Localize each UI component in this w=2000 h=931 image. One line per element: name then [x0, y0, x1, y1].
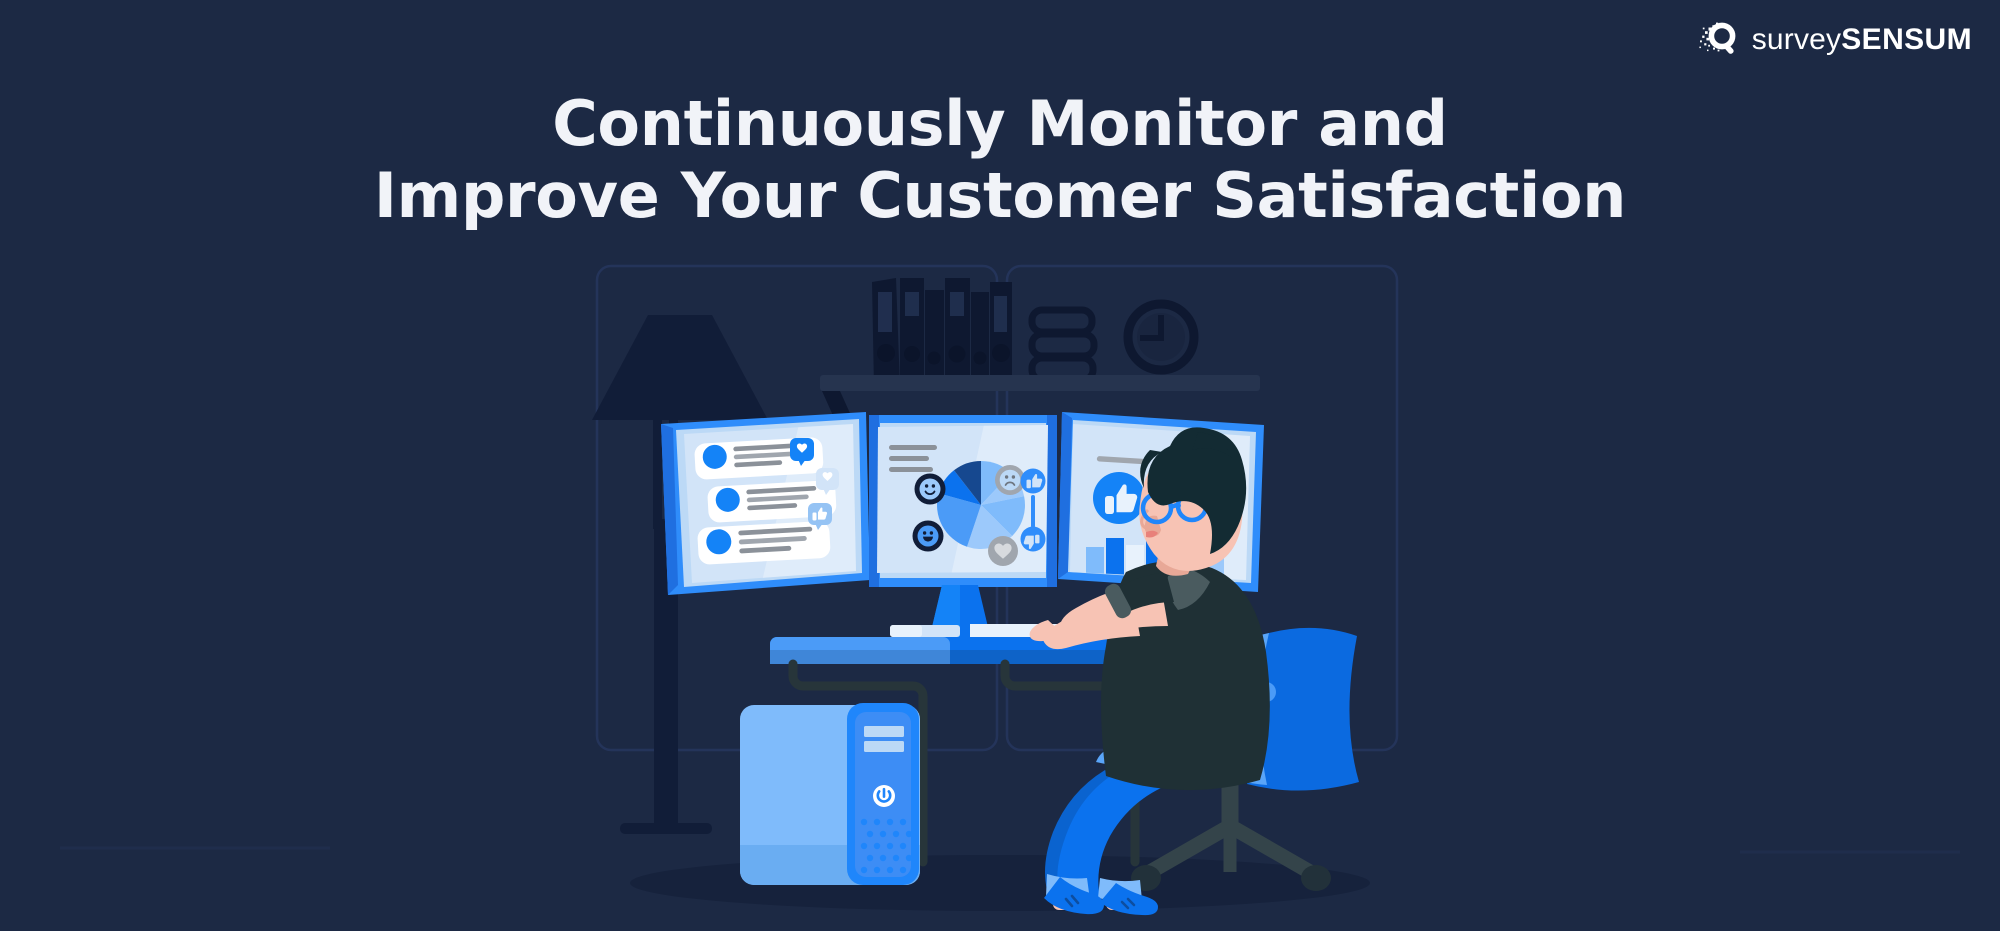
badge-grin-face [913, 521, 944, 552]
rating-thumbs-up [1021, 469, 1046, 494]
monitor-left[interactable] [661, 412, 880, 595]
keyboard [890, 625, 960, 637]
monitor-center[interactable] [869, 415, 1060, 587]
rating-thumbs-down [1021, 527, 1046, 552]
comment-card [697, 521, 831, 565]
hero-illustration [0, 0, 2000, 931]
shelf-board [820, 375, 1260, 391]
power-icon[interactable] [873, 785, 895, 807]
badge-heart [988, 536, 1018, 566]
floor-lines [60, 848, 1960, 852]
promo-banner: surveySENSUM Continuously Monitor and Im… [0, 0, 2000, 931]
chair-wheel [1301, 865, 1331, 891]
rating-thumbs-up [1093, 472, 1145, 524]
pc-tower[interactable] [740, 703, 920, 885]
badge-smiley-face [915, 474, 946, 505]
book-stack [1032, 310, 1094, 380]
wall-clock [1128, 304, 1194, 370]
binder-row [872, 278, 1012, 388]
badge-sad-face [995, 465, 1025, 495]
